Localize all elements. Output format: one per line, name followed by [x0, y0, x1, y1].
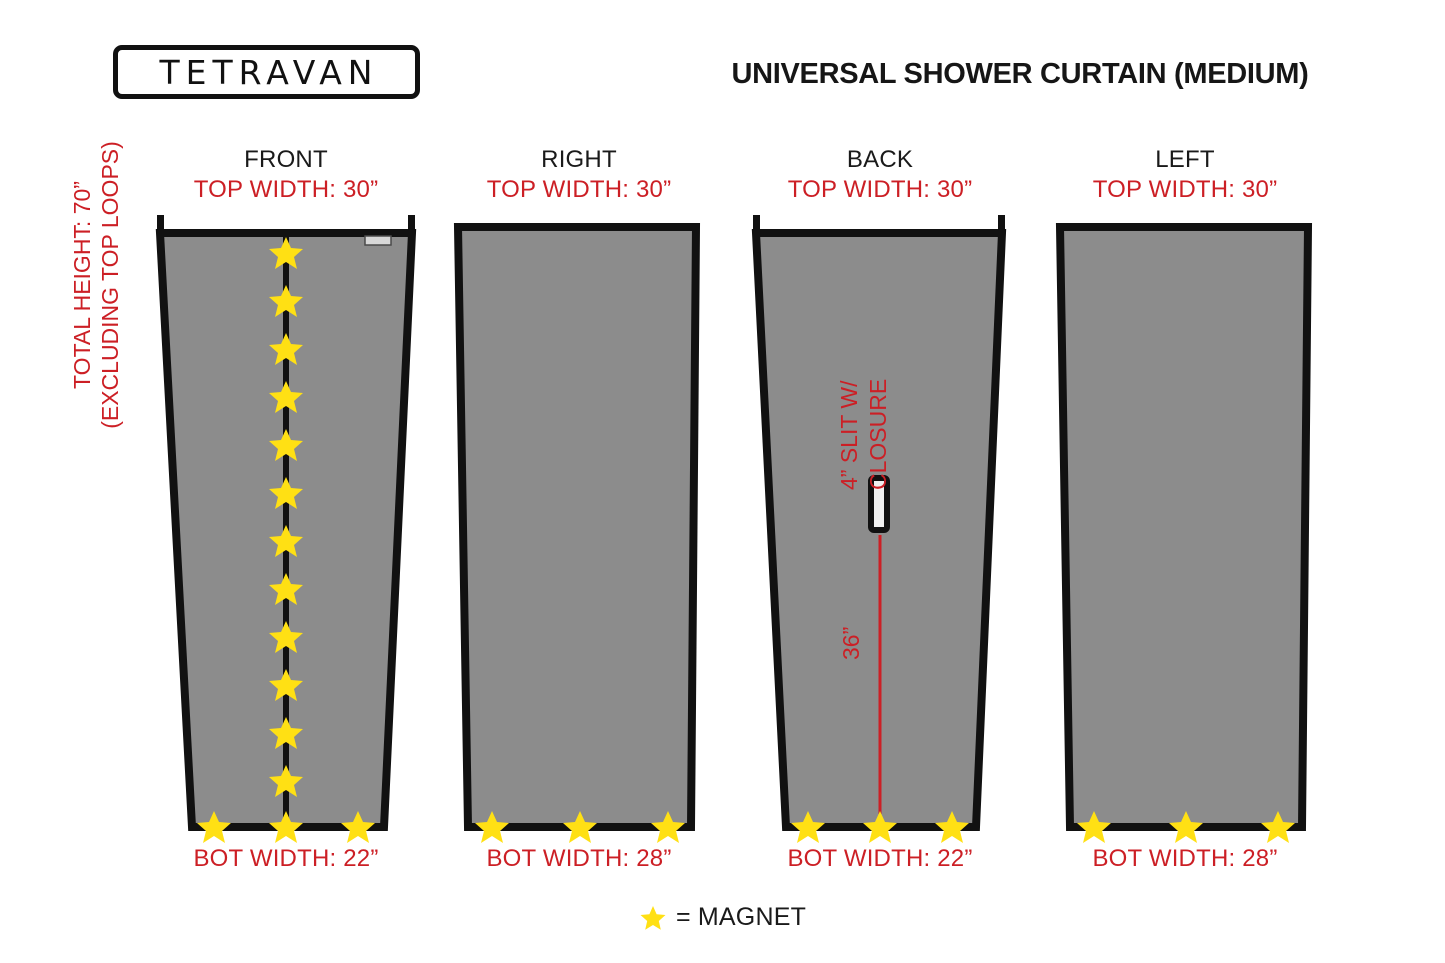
total-height-line2: (EXCLUDING TOP LOOPS) [96, 120, 124, 450]
panel-right: RIGHT TOP WIDTH: 30” BOT WIDTH: 28” [438, 0, 720, 963]
panel-back-bot-width: BOT WIDTH: 22” [740, 845, 1020, 873]
panel-front-bot-width: BOT WIDTH: 22” [140, 845, 432, 873]
legend-label: = MAGNET [676, 903, 806, 932]
panel-left-bot-width: BOT WIDTH: 28” [1040, 845, 1330, 873]
drawing-sheet: TETRAVAN UNIVERSAL SHOWER CURTAIN (MEDIU… [0, 0, 1445, 963]
total-height-callout: TOTAL HEIGHT: 70” (EXCLUDING TOP LOOPS) [68, 120, 128, 450]
panel-front-top-width: TOP WIDTH: 30” [140, 176, 432, 204]
dimension-36-label: 36” [838, 627, 865, 660]
legend: = MAGNET [0, 903, 1445, 932]
panel-left: LEFT TOP WIDTH: 30” BOT WIDTH: 28” [1040, 0, 1330, 963]
panel-right-top-width: TOP WIDTH: 30” [438, 176, 720, 204]
panel-front-name: FRONT [140, 146, 432, 174]
panel-front-drawing [140, 205, 432, 845]
slit-callout-line1: 4” SLIT W/ [835, 260, 864, 490]
panel-front: FRONT TOP WIDTH: 30” [140, 0, 432, 963]
legend-magnet-star-icon [639, 904, 667, 932]
panel-right-bot-width: BOT WIDTH: 28” [438, 845, 720, 873]
panel-right-drawing [438, 205, 720, 845]
panel-left-top-width: TOP WIDTH: 30” [1040, 176, 1330, 204]
panel-left-name: LEFT [1040, 146, 1330, 174]
panel-back-name: BACK [740, 146, 1020, 174]
slit-callout-line2: CLOSURE [864, 260, 893, 490]
brand-tag [365, 236, 391, 245]
panel-back-top-width: TOP WIDTH: 30” [740, 176, 1020, 204]
panel-left-body [1060, 227, 1308, 827]
panel-right-name: RIGHT [438, 146, 720, 174]
total-height-line1: TOTAL HEIGHT: 70” [68, 120, 96, 450]
slit-callout: 4” SLIT W/ CLOSURE [835, 260, 895, 490]
panel-left-drawing [1040, 205, 1330, 845]
panel-right-body [458, 227, 696, 827]
